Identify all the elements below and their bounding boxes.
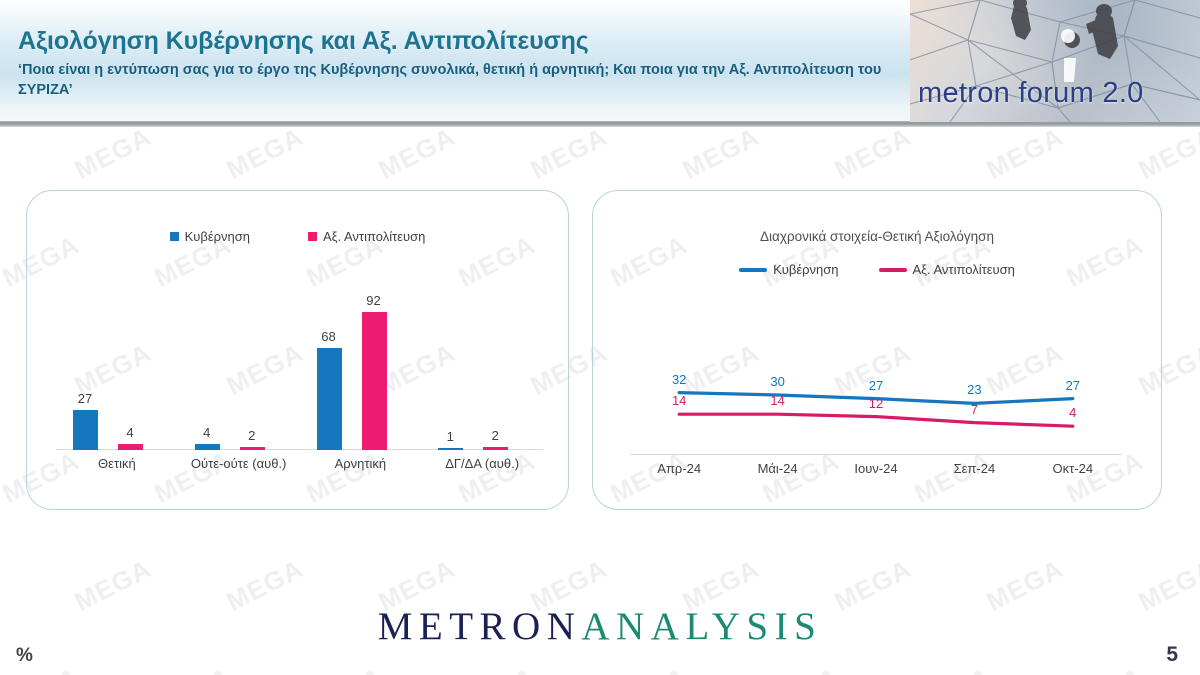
bar-value-label: 92 xyxy=(356,293,392,308)
watermark-text: MEGA xyxy=(829,121,916,186)
bar-opposition[interactable] xyxy=(240,447,265,450)
bar-government[interactable] xyxy=(195,444,220,450)
bar-value-label: 2 xyxy=(234,428,270,443)
page-subtitle: ‘Ποια είναι η εντύπωση σας για το έργο τ… xyxy=(18,60,888,100)
watermark-text: MEGA xyxy=(69,121,156,186)
line-chart: Διαχρονικά στοιχεία-Θετική Αξιολόγηση Κυ… xyxy=(592,190,1162,510)
line-value-label: 12 xyxy=(856,396,896,411)
bar-value-label: 1 xyxy=(432,429,468,444)
legend-label-government: Κυβέρνηση xyxy=(185,229,250,244)
line-value-label: 23 xyxy=(954,382,994,397)
watermark-text: MEGA xyxy=(981,121,1068,186)
line-chart-plot-area: 323027232714141274 xyxy=(630,300,1122,455)
bar-government[interactable] xyxy=(317,348,342,450)
legend-item-opposition[interactable]: Αξ. Αντιπολίτευση xyxy=(308,229,425,244)
watermark-text: MEGA xyxy=(373,121,460,186)
line-x-tick-label: Μάι-24 xyxy=(728,461,826,476)
watermark-text: MEGA xyxy=(677,121,764,186)
title-block: Αξιολόγηση Κυβέρνησης και Αξ. Αντιπολίτε… xyxy=(18,26,888,100)
bar-x-tick-label: Θετική xyxy=(56,456,178,471)
watermark-text: MEGA xyxy=(0,337,5,402)
legend-item-opposition-line[interactable]: Αξ. Αντιπολίτευση xyxy=(879,262,1015,277)
line-value-label: 14 xyxy=(758,393,798,408)
bar-opposition[interactable] xyxy=(362,312,387,450)
bar-government[interactable] xyxy=(73,410,98,451)
legend-line-opposition xyxy=(879,268,907,272)
bar-opposition[interactable] xyxy=(483,447,508,450)
bar-value-label: 68 xyxy=(311,329,347,344)
bar-value-label: 4 xyxy=(112,425,148,440)
line-chart-legend: Κυβέρνηση Αξ. Αντιπολίτευση xyxy=(592,262,1162,277)
bar-x-tick-label: ΔΓ/ΔΑ (αυθ.) xyxy=(421,456,543,471)
bar-group: 42 xyxy=(178,265,300,450)
bar-value-label: 2 xyxy=(477,428,513,443)
legend-label-opposition: Αξ. Αντιπολίτευση xyxy=(323,229,425,244)
metron-forum-logo: metron forum 2.0 xyxy=(910,0,1200,122)
page-number: 5 xyxy=(1166,643,1178,667)
line-series-opposition[interactable] xyxy=(679,414,1073,426)
bar-government[interactable] xyxy=(438,448,463,450)
line-chart-x-axis: Απρ-24Μάι-24Ιουν-24Σεπ-24Οκτ-24 xyxy=(630,461,1122,481)
legend-line-government xyxy=(739,268,767,272)
slide-footer: METRONANALYSIS xyxy=(0,600,1200,675)
brand-analysis: ANALYSIS xyxy=(581,605,822,648)
brand-metron: METRON xyxy=(378,605,582,648)
logo-text: metron forum 2.0 xyxy=(918,77,1200,110)
line-x-tick-label: Ιουν-24 xyxy=(827,461,925,476)
bar-value-label: 4 xyxy=(189,425,225,440)
legend-swatch-government xyxy=(170,232,179,241)
legend-item-government[interactable]: Κυβέρνηση xyxy=(170,229,250,244)
page-title: Αξιολόγηση Κυβέρνησης και Αξ. Αντιπολίτε… xyxy=(18,26,888,56)
watermark-text: MEGA xyxy=(525,121,612,186)
metron-analysis-logo: METRONANALYSIS xyxy=(0,604,1200,649)
watermark-text: MEGA xyxy=(221,121,308,186)
line-chart-baseline xyxy=(630,454,1122,455)
line-value-label: 27 xyxy=(1053,378,1093,393)
bar-chart-legend: Κυβέρνηση Αξ. Αντιπολίτευση xyxy=(26,229,569,244)
bar-group: 6892 xyxy=(300,265,422,450)
bar-chart-plot-area: 27442689212 xyxy=(56,265,543,450)
bar-group: 12 xyxy=(421,265,543,450)
bar-x-tick-label: Αρνητική xyxy=(300,456,422,471)
line-value-label: 30 xyxy=(758,374,798,389)
legend-label-government-line: Κυβέρνηση xyxy=(773,262,838,277)
bar-value-label: 27 xyxy=(67,391,103,406)
line-x-tick-label: Απρ-24 xyxy=(630,461,728,476)
bar-group: 274 xyxy=(56,265,178,450)
watermark-text: MEGA xyxy=(1133,121,1200,186)
line-x-tick-label: Οκτ-24 xyxy=(1024,461,1122,476)
line-value-label: 32 xyxy=(659,372,699,387)
line-value-label: 14 xyxy=(659,393,699,408)
line-value-label: 27 xyxy=(856,378,896,393)
line-value-label: 7 xyxy=(954,402,994,417)
line-value-label: 4 xyxy=(1053,405,1093,420)
watermark-text: MEGA xyxy=(0,121,5,186)
bar-chart: Κυβέρνηση Αξ. Αντιπολίτευση 27442689212 … xyxy=(26,190,569,510)
line-chart-title: Διαχρονικά στοιχεία-Θετική Αξιολόγηση xyxy=(592,229,1162,244)
line-x-tick-label: Σεπ-24 xyxy=(925,461,1023,476)
unit-symbol: % xyxy=(16,645,33,667)
bar-opposition[interactable] xyxy=(118,444,143,450)
legend-swatch-opposition xyxy=(308,232,317,241)
legend-item-government-line[interactable]: Κυβέρνηση xyxy=(739,262,838,277)
legend-label-opposition-line: Αξ. Αντιπολίτευση xyxy=(913,262,1015,277)
bar-x-tick-label: Ούτε-ούτε (αυθ.) xyxy=(178,456,300,471)
bar-chart-x-axis: ΘετικήΟύτε-ούτε (αυθ.)ΑρνητικήΔΓ/ΔΑ (αυθ… xyxy=(56,456,543,476)
